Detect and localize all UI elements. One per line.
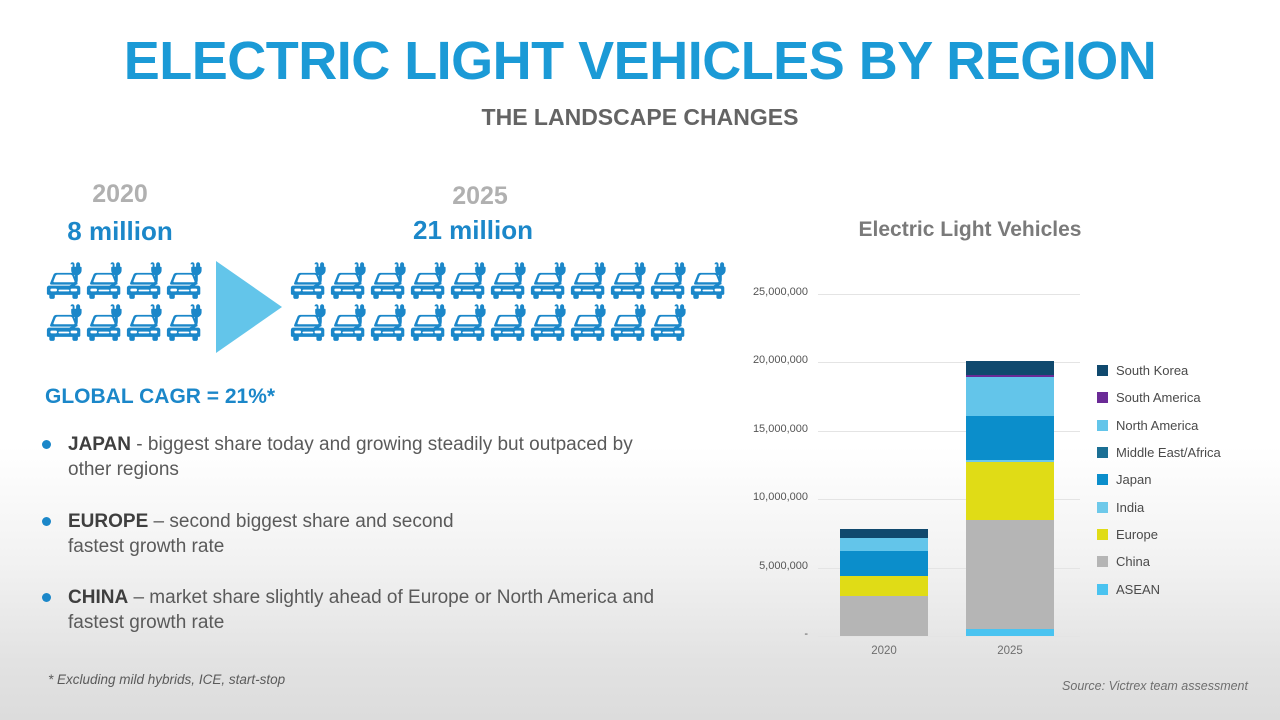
page-subtitle: THE LANDSCAPE CHANGES (0, 104, 1280, 131)
legend-swatch-icon (1097, 365, 1108, 376)
chart-segment (966, 462, 1054, 519)
legend-swatch-icon (1097, 447, 1108, 458)
electric-car-icon (44, 303, 84, 345)
legend-item-south-korea[interactable]: South Korea (1097, 357, 1221, 384)
pictogram-cars-2020 (44, 261, 214, 345)
chart-segment (840, 529, 928, 537)
electric-car-icon (448, 303, 488, 345)
chart-y-axis-tick: 5,000,000 (688, 560, 808, 572)
legend-swatch-icon (1097, 584, 1108, 595)
electric-car-icon (288, 261, 328, 303)
legend-swatch-icon (1097, 420, 1108, 431)
chart-segment (840, 596, 928, 636)
chart-title: Electric Light Vehicles (760, 218, 1180, 242)
chart-y-axis-tick: 15,000,000 (688, 423, 808, 435)
legend-label: Japan (1116, 472, 1151, 487)
legend-item-china[interactable]: China (1097, 548, 1221, 575)
chart-segment (840, 551, 928, 576)
legend-item-asean[interactable]: ASEAN (1097, 575, 1221, 602)
electric-car-icon (568, 261, 608, 303)
chart-segment (966, 520, 1054, 629)
electric-car-icon (648, 261, 688, 303)
chart-bar-2025 (966, 361, 1054, 636)
footnote: * Excluding mild hybrids, ICE, start-sto… (48, 672, 285, 687)
legend-item-south-america[interactable]: South America (1097, 384, 1221, 411)
electric-car-icon (84, 303, 124, 345)
electric-car-icon (408, 303, 448, 345)
bullet-text-china: CHINA – market share slightly ahead of E… (68, 585, 662, 635)
electric-car-icon (328, 261, 368, 303)
electric-car-icon (408, 261, 448, 303)
electric-car-icon (568, 303, 608, 345)
bullet-text-europe: EUROPE – second biggest share and second… (68, 509, 488, 559)
legend-item-middle-east-africa[interactable]: Middle East/Africa (1097, 439, 1221, 466)
electric-car-icon (164, 303, 204, 345)
electric-car-icon (488, 303, 528, 345)
legend-swatch-icon (1097, 392, 1108, 403)
legend-label: India (1116, 500, 1144, 515)
chart-y-axis-tick: - (688, 628, 808, 640)
chart-y-axis-tick: 25,000,000 (688, 286, 808, 298)
electric-car-icon (124, 261, 164, 303)
electric-car-icon (528, 261, 568, 303)
chart-segment (840, 538, 928, 552)
legend-label: ASEAN (1116, 582, 1160, 597)
legend-label: China (1116, 554, 1150, 569)
electric-car-icon (608, 261, 648, 303)
legend-label: Middle East/Africa (1116, 445, 1221, 460)
chart-x-axis-tick: 2020 (839, 645, 929, 657)
pictogram-cars-2025 (288, 261, 738, 345)
pictogram-row (44, 261, 204, 303)
electric-car-icon (164, 261, 204, 303)
chart-segment (966, 416, 1054, 460)
pictogram-row (44, 303, 204, 345)
chart-bar-2020 (840, 529, 928, 636)
bullet-dot-icon (42, 593, 51, 602)
legend-swatch-icon (1097, 502, 1108, 513)
pictogram-count-2025: 21 million (398, 215, 548, 246)
bullet-dot-icon (42, 440, 51, 449)
electric-car-icon (648, 303, 688, 345)
bullet-text-japan: JAPAN - biggest share today and growing … (68, 432, 662, 482)
bullet-body-japan: - biggest share today and growing steadi… (68, 434, 633, 480)
legend-swatch-icon (1097, 529, 1108, 540)
electric-car-icon (528, 303, 568, 345)
legend-item-japan[interactable]: Japan (1097, 466, 1221, 493)
chart-segment (966, 361, 1054, 375)
bullet-item-japan: JAPAN - biggest share today and growing … (42, 432, 662, 482)
chart-segment (966, 629, 1054, 636)
slide-canvas: ELECTRIC LIGHT VEHICLES BY REGION THE LA… (0, 0, 1280, 720)
electric-car-icon (288, 303, 328, 345)
bullet-body-china: – market share slightly ahead of Europe … (68, 587, 654, 633)
legend-item-europe[interactable]: Europe (1097, 521, 1221, 548)
legend-item-north-america[interactable]: North America (1097, 412, 1221, 439)
electric-car-icon (368, 261, 408, 303)
bullet-item-china: CHINA – market share slightly ahead of E… (42, 585, 662, 635)
electric-car-icon (448, 261, 488, 303)
pictogram-year-2020: 2020 (45, 180, 195, 209)
bullet-dot-icon (42, 517, 51, 526)
chart-gridline (818, 294, 1080, 295)
bullet-region-china: CHINA (68, 587, 128, 608)
chart-y-axis-tick: 20,000,000 (688, 354, 808, 366)
chart-segment (966, 377, 1054, 415)
bullet-region-japan: JAPAN (68, 434, 131, 455)
legend-label: South America (1116, 390, 1201, 405)
global-cagr-heading: GLOBAL CAGR = 21%* (45, 385, 275, 409)
chart-gridline (818, 636, 1080, 637)
electric-car-icon (328, 303, 368, 345)
electric-car-icon (44, 261, 84, 303)
legend-label: North America (1116, 418, 1198, 433)
page-title: ELECTRIC LIGHT VEHICLES BY REGION (0, 34, 1280, 88)
legend-swatch-icon (1097, 556, 1108, 567)
pictogram-row (288, 261, 728, 303)
bullet-item-europe: EUROPE – second biggest share and second… (42, 509, 662, 559)
pictogram-row (288, 303, 688, 345)
source-note: Source: Victrex team assessment (1062, 679, 1248, 693)
electric-car-icon (84, 261, 124, 303)
pictogram-count-2020: 8 million (45, 216, 195, 247)
chart-legend: South KoreaSouth AmericaNorth AmericaMid… (1097, 357, 1221, 603)
chart-y-axis-tick: 10,000,000 (688, 491, 808, 503)
pictogram-year-2025: 2025 (405, 182, 555, 211)
legend-label: Europe (1116, 527, 1158, 542)
growth-arrow-icon (216, 261, 282, 353)
electric-car-icon (368, 303, 408, 345)
legend-label: South Korea (1116, 363, 1188, 378)
legend-swatch-icon (1097, 474, 1108, 485)
legend-item-india[interactable]: India (1097, 493, 1221, 520)
electric-car-icon (608, 303, 648, 345)
chart-segment (840, 576, 928, 597)
bullet-region-europe: EUROPE (68, 511, 148, 532)
chart-x-axis-tick: 2025 (965, 645, 1055, 657)
electric-car-icon (488, 261, 528, 303)
electric-car-icon (124, 303, 164, 345)
chart-plot-area (818, 294, 1080, 636)
